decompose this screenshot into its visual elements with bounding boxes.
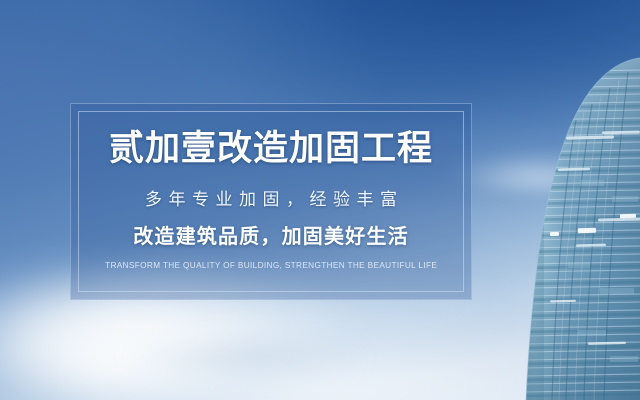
panel-content: 贰加壹改造加固工程 多年专业加固，经验丰富 改造建筑品质，加固美好生活 TRAN… (70, 103, 472, 300)
subheadline-english: TRANSFORM THE QUALITY OF BUILDING, STREN… (105, 261, 437, 270)
skyscraper-image (480, 0, 640, 400)
headline-title: 贰加壹改造加固工程 (109, 131, 433, 166)
hero-text-panel: 贰加壹改造加固工程 多年专业加固，经验丰富 改造建筑品质，加固美好生活 TRAN… (70, 103, 472, 300)
subheadline-primary: 多年专业加固，经验丰富 (139, 191, 404, 208)
subheadline-secondary: 改造建筑品质，加固美好生活 (133, 227, 409, 247)
hero-banner: 贰加壹改造加固工程 多年专业加固，经验丰富 改造建筑品质，加固美好生活 TRAN… (0, 0, 640, 400)
